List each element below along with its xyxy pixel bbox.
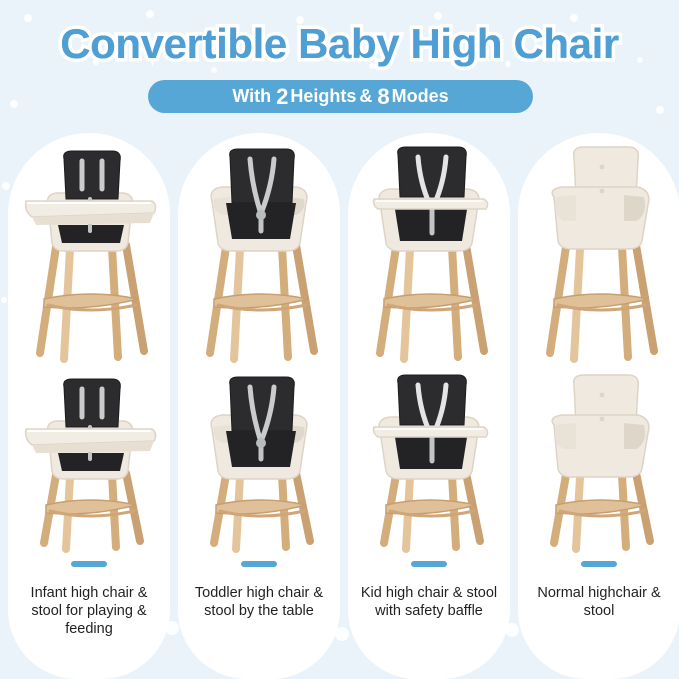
chair-image-normal-high — [518, 139, 679, 371]
badge-heights-label: Heights — [290, 86, 359, 107]
infographic-root: Convertible Baby High Chair Convertible … — [0, 0, 679, 679]
card-caption-toddler: Toddler high chair & stool by the table — [178, 584, 340, 620]
product-card-grid: Infant high chair & stool for playing & … — [0, 133, 679, 679]
caption-block-kid: Kid high chair & stool with safety baffl… — [348, 561, 510, 620]
card-caption-normal: Normal highchair & stool — [518, 584, 679, 620]
caption-block-toddler: Toddler high chair & stool by the table — [178, 561, 340, 620]
chair-image-toddler-low — [178, 371, 340, 561]
page-title: Convertible Baby High Chair — [0, 20, 679, 68]
caption-divider — [71, 561, 107, 567]
caption-block-infant: Infant high chair & stool for playing & … — [8, 561, 170, 638]
chair-image-infant-high — [8, 139, 170, 371]
card-caption-infant: Infant high chair & stool for playing & … — [8, 584, 170, 638]
chair-image-kid-high — [348, 139, 510, 371]
badge-prefix: With — [232, 86, 274, 107]
product-card-toddler[interactable]: Toddler high chair & stool by the table — [178, 133, 340, 679]
subtitle-badge: With 2 Heights & 8 Modes — [148, 80, 533, 113]
product-card-normal[interactable]: Normal highchair & stool — [518, 133, 679, 679]
caption-divider — [411, 561, 447, 567]
badge-ampersand: & — [359, 86, 375, 107]
chair-image-infant-low — [8, 371, 170, 561]
caption-divider — [241, 561, 277, 567]
product-card-infant[interactable]: Infant high chair & stool for playing & … — [8, 133, 170, 679]
chair-image-normal-low — [518, 371, 679, 561]
card-caption-kid: Kid high chair & stool with safety baffl… — [348, 584, 510, 620]
header: Convertible Baby High Chair Convertible … — [0, 0, 679, 133]
caption-block-normal: Normal highchair & stool — [518, 561, 679, 620]
chair-image-toddler-high — [178, 139, 340, 371]
chair-image-kid-low — [348, 371, 510, 561]
badge-heights-number: 2 — [274, 84, 290, 110]
caption-divider — [581, 561, 617, 567]
badge-modes-number: 8 — [375, 84, 391, 110]
product-card-kid[interactable]: Kid high chair & stool with safety baffl… — [348, 133, 510, 679]
badge-modes-label: Modes — [392, 86, 449, 107]
